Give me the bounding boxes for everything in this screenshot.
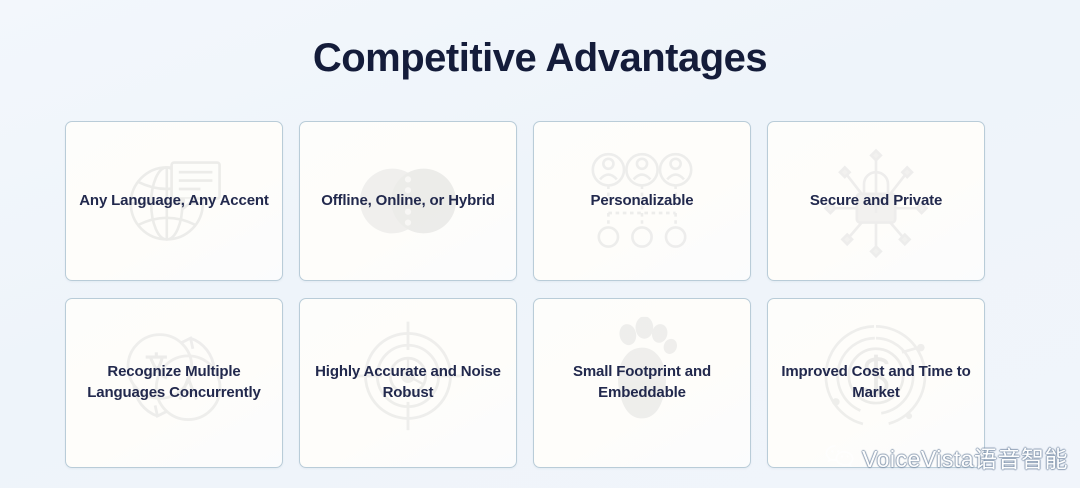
advantage-card-secure-and-private[interactable]: Secure and Private [767, 121, 985, 281]
advantage-card-accurate-noise-robust[interactable]: Highly Accurate and Noise Robust [299, 298, 517, 468]
advantage-card-any-language[interactable]: Any Language, Any Accent [65, 121, 283, 281]
advantage-card-label: Recognize Multiple Languages Concurrentl… [66, 362, 282, 403]
advantage-card-label: Highly Accurate and Noise Robust [300, 362, 516, 403]
advantages-card-grid: Any Language, Any Accent Offline, Online… [65, 121, 985, 468]
advantage-card-label: Any Language, Any Accent [67, 191, 281, 212]
advantage-card-multiple-languages[interactable]: Recognize Multiple Languages Concurrentl… [65, 298, 283, 468]
advantage-card-small-footprint[interactable]: Small Footprint and Embeddable [533, 298, 751, 468]
advantage-card-label: Offline, Online, or Hybrid [309, 191, 507, 212]
advantage-card-label: Secure and Private [798, 191, 954, 212]
advantage-card-improved-cost-time[interactable]: Improved Cost and Time to Market [767, 298, 985, 468]
advantage-card-personalizable[interactable]: Personalizable [533, 121, 751, 281]
page-title: Competitive Advantages [0, 0, 1080, 80]
advantage-card-offline-online-hybrid[interactable]: Offline, Online, or Hybrid [299, 121, 517, 281]
advantage-card-label: Personalizable [579, 191, 706, 212]
advantage-card-label: Improved Cost and Time to Market [768, 362, 984, 403]
advantage-card-label: Small Footprint and Embeddable [534, 362, 750, 403]
